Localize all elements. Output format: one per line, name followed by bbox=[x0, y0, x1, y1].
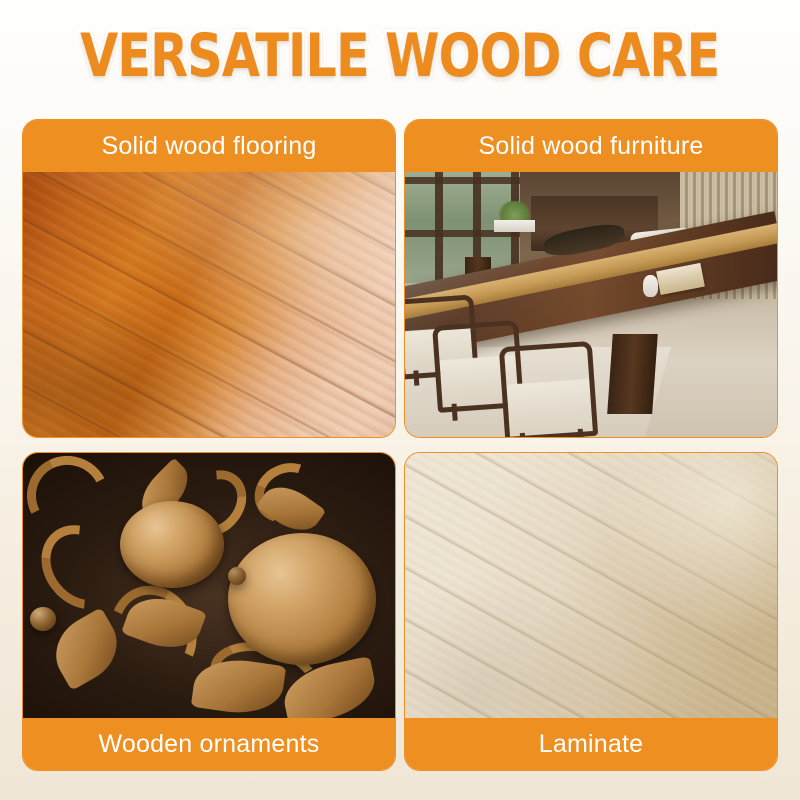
chair-leg bbox=[519, 433, 525, 437]
panel-laminate[interactable]: Laminate bbox=[404, 452, 778, 771]
wood-care-panel-grid: Solid wood flooring Solid wood furniture bbox=[22, 119, 778, 779]
laminate-floor-texture bbox=[405, 453, 777, 718]
table-leg-right bbox=[607, 334, 657, 414]
panel-solid-wood-furniture[interactable]: Solid wood furniture bbox=[404, 119, 778, 438]
panel-image-laminate bbox=[405, 453, 777, 718]
chair-leg bbox=[413, 370, 419, 386]
page-title: VERSATILE WOOD CARE bbox=[80, 26, 719, 86]
panel-solid-wood-flooring[interactable]: Solid wood flooring bbox=[22, 119, 396, 438]
panel-image-solid-wood-furniture bbox=[405, 172, 777, 437]
panel-label-wooden-ornaments: Wooden ornaments bbox=[23, 718, 395, 770]
carved-gourd-ornament bbox=[23, 453, 395, 718]
panel-label-solid-wood-flooring: Solid wood flooring bbox=[23, 120, 395, 172]
wood-floor-texture bbox=[23, 172, 395, 437]
panel-image-wooden-ornaments bbox=[23, 453, 395, 718]
carved-gourd-small bbox=[120, 501, 224, 588]
chair-leg bbox=[451, 404, 457, 421]
panel-label-laminate: Laminate bbox=[405, 718, 777, 770]
tea-room-scene bbox=[405, 172, 777, 437]
plant-tray bbox=[494, 220, 535, 232]
small-vase bbox=[643, 275, 658, 296]
panel-wooden-ornaments[interactable]: Wooden ornaments bbox=[22, 452, 396, 771]
panel-label-solid-wood-furniture: Solid wood furniture bbox=[405, 120, 777, 172]
armchair bbox=[499, 341, 598, 437]
panel-image-solid-wood-flooring bbox=[23, 172, 395, 437]
page-header: VERSATILE WOOD CARE bbox=[0, 0, 800, 112]
carved-gourd-large bbox=[228, 533, 377, 666]
chair-leg bbox=[577, 429, 583, 437]
carved-gourd-bud bbox=[30, 607, 56, 631]
